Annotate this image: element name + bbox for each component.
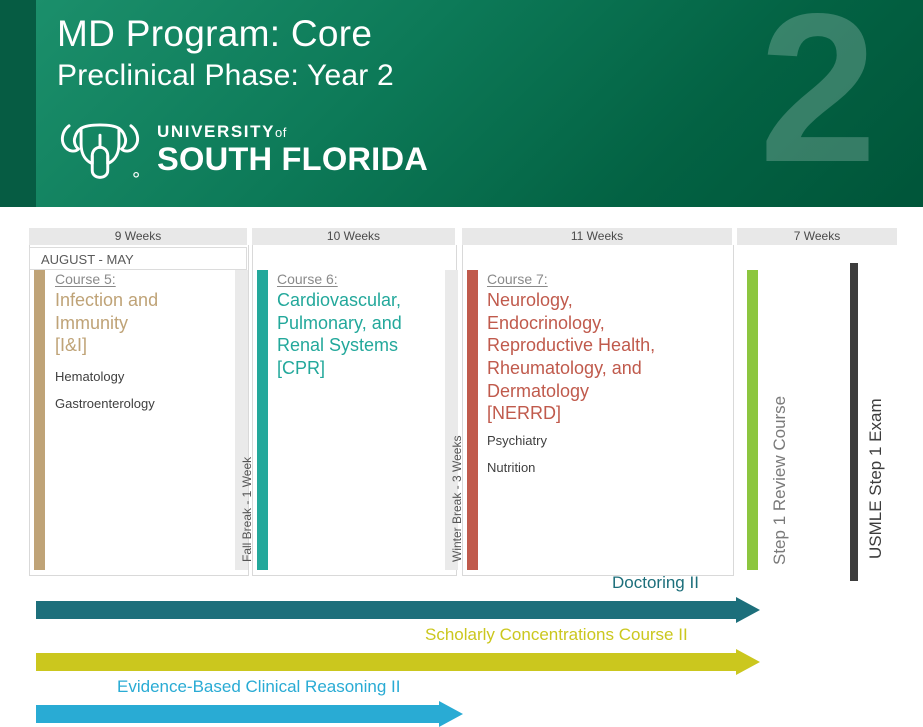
arrow-label-scholarly-concentrations-ii: Scholarly Concentrations Course II (425, 625, 688, 645)
course-block-course6: Course 6: Cardiovascular, Pulmonary, and… (277, 271, 452, 380)
course-block-course7: Course 7: Neurology, Endocrinology, Repr… (487, 271, 727, 475)
course7-title-line-6: [NERRD] (487, 402, 727, 425)
course7-title-line-1: Neurology, (487, 289, 727, 312)
wordmark-line-southflorida: SOUTH FLORIDA (157, 143, 428, 175)
break-label-fall: Fall Break - 1 Week (240, 457, 254, 562)
break-label-winter: Winter Break - 3 Weeks (450, 436, 464, 562)
course6-title-line-2: Pulmonary, and (277, 312, 452, 335)
year-number-badge: 2 (759, 0, 871, 194)
course-bar-course5 (34, 270, 45, 570)
course-label-course7: Course 7: (487, 271, 727, 287)
arrow-scholarly-concentrations-ii (36, 649, 761, 675)
course-title-course5: Infection and Immunity [I&I] (55, 289, 240, 357)
course7-title-line-2: Endocrinology, (487, 312, 727, 335)
arrow-label-doctoring-ii: Doctoring II (612, 573, 699, 593)
course7-subitem-1: Nutrition (487, 460, 727, 475)
month-range-box: AUGUST - MAY (29, 247, 247, 270)
usf-bull-logo-icon (57, 118, 143, 180)
usf-logo-lockup: UNIVERSITYof SOUTH FLORIDA (57, 118, 423, 180)
course-title-course6: Cardiovascular, Pulmonary, and Renal Sys… (277, 289, 452, 380)
week-header-step1: 7 Weeks (737, 228, 897, 245)
curriculum-timeline: 9 Weeks 10 Weeks 11 Weeks 7 Weeks AUGUST… (0, 207, 923, 725)
bar-usmle-step1-exam (850, 263, 858, 581)
header-left-accent-strip (0, 0, 36, 207)
course6-title-line-3: Renal Systems (277, 334, 452, 357)
course-label-course6: Course 6: (277, 271, 452, 287)
course-block-course5: Course 5: Infection and Immunity [I&I] H… (55, 271, 240, 411)
course7-title-line-3: Reproductive Health, (487, 334, 727, 357)
course7-title-line-4: Rheumatology, and (487, 357, 727, 380)
wordmark-of-text: of (275, 125, 287, 140)
arrow-doctoring-ii (36, 597, 761, 623)
course-bar-course7 (467, 270, 478, 570)
course5-subitem-1: Gastroenterology (55, 396, 240, 411)
label-step1-review-course: Step 1 Review Course (770, 396, 790, 565)
course-title-course7: Neurology, Endocrinology, Reproductive H… (487, 289, 727, 425)
course6-title-line-4: [CPR] (277, 357, 452, 380)
label-usmle-step1-exam: USMLE Step 1 Exam (866, 398, 886, 559)
course7-subitem-0: Psychiatry (487, 433, 727, 448)
course6-title-line-1: Cardiovascular, (277, 289, 452, 312)
course-label-course5: Course 5: (55, 271, 240, 287)
wordmark-university-text: UNIVERSITY (157, 122, 275, 141)
header-title-block: MD Program: Core Preclinical Phase: Year… (57, 12, 394, 93)
usf-wordmark: UNIVERSITYof SOUTH FLORIDA (157, 123, 423, 175)
course5-title-line-1: Infection and (55, 289, 240, 312)
week-header-course6: 10 Weeks (252, 228, 455, 245)
arrow-label-evidence-based-clinical-reasoning-ii: Evidence-Based Clinical Reasoning II (117, 677, 401, 697)
course5-subitem-0: Hematology (55, 369, 240, 384)
wordmark-line-university: UNIVERSITYof (157, 123, 423, 140)
week-header-course5: 9 Weeks (29, 228, 247, 245)
bar-step1-review-course (747, 270, 758, 570)
arrow-evidence-based-clinical-reasoning-ii (36, 701, 464, 727)
course7-title-line-5: Dermatology (487, 380, 727, 403)
program-subtitle: Preclinical Phase: Year 2 (57, 58, 394, 93)
week-header-course7: 11 Weeks (462, 228, 732, 245)
program-title: MD Program: Core (57, 12, 394, 56)
page-header: 2 MD Program: Core Preclinical Phase: Ye… (0, 0, 923, 207)
course5-title-line-2: Immunity (55, 312, 240, 335)
course5-title-line-3: [I&I] (55, 334, 240, 357)
course-bar-course6 (257, 270, 268, 570)
